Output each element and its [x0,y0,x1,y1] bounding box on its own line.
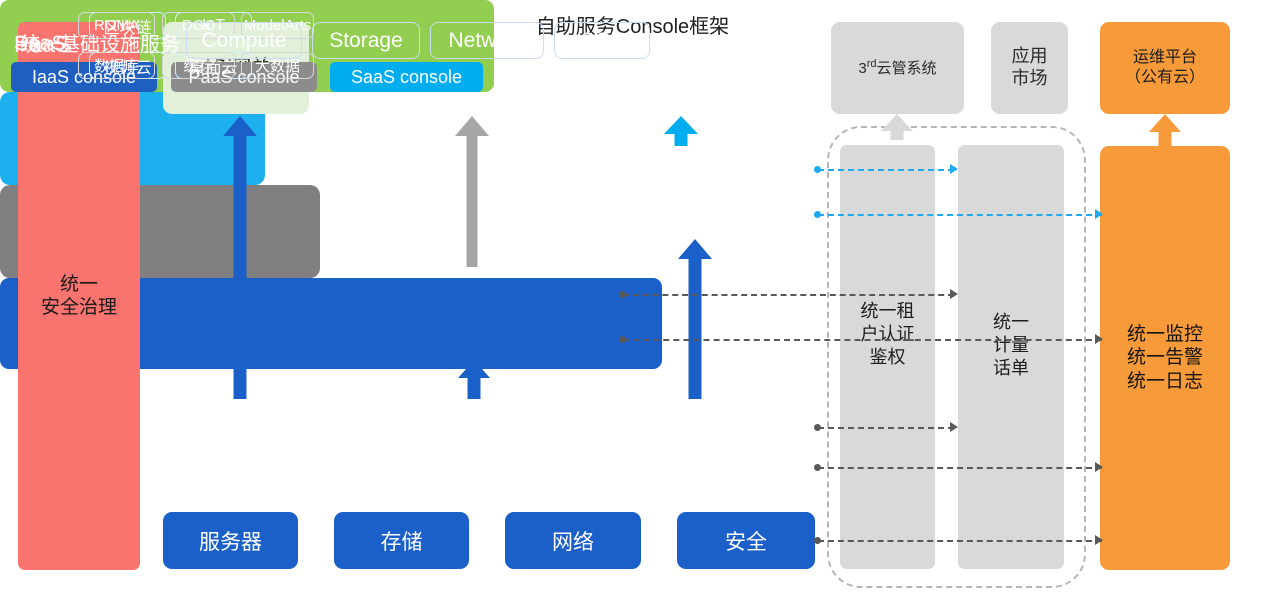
arrow-head-saas-to-metering [950,164,958,174]
connector-resources-to-ops [818,540,1102,542]
arrow-up-saas-to-console [664,116,698,146]
arrow-head-infra-to-ops [1095,462,1103,472]
ops-platform-top-label: 运维平台（公有云） [1125,48,1205,87]
infra-service-network[interactable]: Network [430,22,544,59]
security-governance-label: 统一安全治理 [41,273,117,319]
arrow-head-paas-to-auth [950,289,958,299]
panel-ops-monitoring: 统一监控统一告警统一日志 [1100,146,1230,570]
infrastructure-label: 统一基础设施服务 [20,28,180,57]
panel-security-governance: 统一安全治理 [18,22,140,570]
connector-paas-to-ops [623,339,1102,341]
infra-service-cce[interactable]: CCE [554,22,650,59]
resource-network[interactable]: 网络 [505,512,641,569]
connector-saas-to-ops [818,214,1102,216]
column-unified-metering: 统一计量话单 [958,145,1064,569]
arrow-head-saas-to-ops [1095,209,1103,219]
arrow-head-paas-to-ops [1095,334,1103,344]
app-market-label: 应用市场 [1012,46,1048,90]
connector-paas-to-auth [623,294,954,296]
connector-saas-to-metering [818,169,954,171]
arrow-head-infra-to-auth [950,422,958,432]
column-auth-label: 统一租户认证鉴权 [840,300,935,369]
infra-service-storage[interactable]: Storage [312,22,420,59]
panel-ops-platform-public-cloud: 运维平台（公有云） [1100,22,1230,114]
arrow-up-to-third-cloud-mgmt [881,114,913,140]
connector-infra-to-ops [818,467,1102,469]
connector-infra-to-auth [818,427,954,429]
infra-service-compute[interactable]: Compute [186,22,302,59]
resource-security[interactable]: 安全 [677,512,815,569]
arrow-up-infra-to-paas [458,360,490,399]
third-cloud-mgmt-label: 3rd云管系统 [858,58,936,78]
panel-third-party-cloud-management: 3rd云管系统 [831,22,964,114]
arrow-up-infra-to-saas [678,239,712,399]
ops-platform-body-label: 统一监控统一告警统一日志 [1127,323,1203,393]
resource-storage[interactable]: 存储 [334,512,469,569]
arrow-head-resources-to-ops [1095,535,1103,545]
arrow-up-to-ops-platform [1149,114,1181,148]
column-metering-label: 统一计量话单 [958,311,1064,380]
architecture-diagram: 统一安全治理 API网关 自助服务Console框架 IaaS console … [0,0,1265,605]
arrow-up-paas-to-console [455,116,489,267]
resource-server[interactable]: 服务器 [163,512,298,569]
arrow-up-infra-to-api-gateway [223,116,257,399]
column-unified-tenant-auth: 统一租户认证鉴权 [840,145,935,569]
chip-saas-console[interactable]: SaaS console [330,62,483,92]
panel-app-market: 应用市场 [991,22,1068,114]
